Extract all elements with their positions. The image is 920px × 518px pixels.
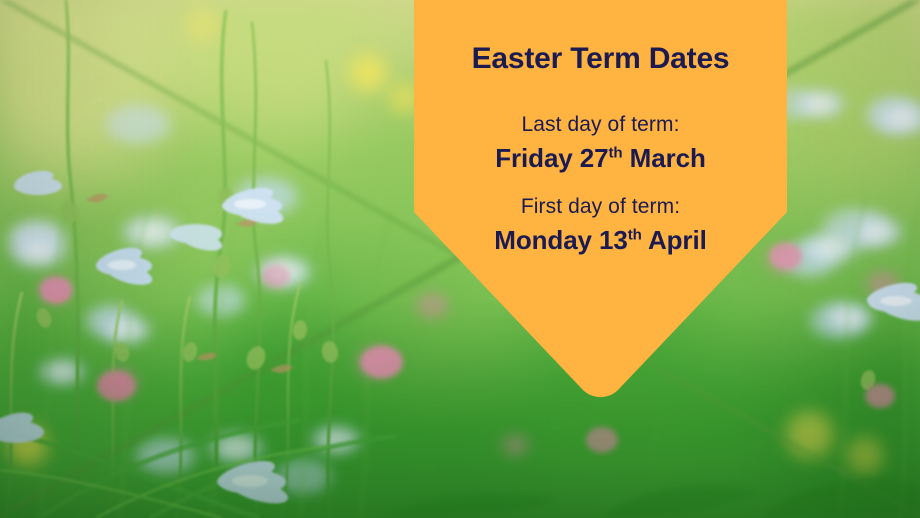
first-day-date: Monday 13th April — [414, 226, 787, 255]
poster-canvas: Easter Term Dates Last day of term: Frid… — [0, 0, 920, 518]
last-day-date-month: March — [623, 143, 706, 173]
term-entry-first-day: First day of term: Monday 13th April — [414, 195, 787, 255]
first-day-label: First day of term: — [414, 195, 787, 218]
first-day-date-day: Monday 13 — [494, 225, 627, 255]
banner-text-block: Easter Term Dates Last day of term: Frid… — [414, 0, 787, 254]
last-day-date: Friday 27th March — [414, 144, 787, 173]
first-day-date-month: April — [642, 225, 707, 255]
term-dates-banner: Easter Term Dates Last day of term: Frid… — [414, 0, 787, 397]
first-day-date-ordinal: th — [628, 226, 642, 243]
last-day-date-day: Friday 27 — [495, 143, 608, 173]
last-day-label: Last day of term: — [414, 113, 787, 136]
banner-title: Easter Term Dates — [414, 42, 787, 75]
last-day-date-ordinal: th — [609, 144, 623, 161]
term-entry-last-day: Last day of term: Friday 27th March — [414, 113, 787, 173]
